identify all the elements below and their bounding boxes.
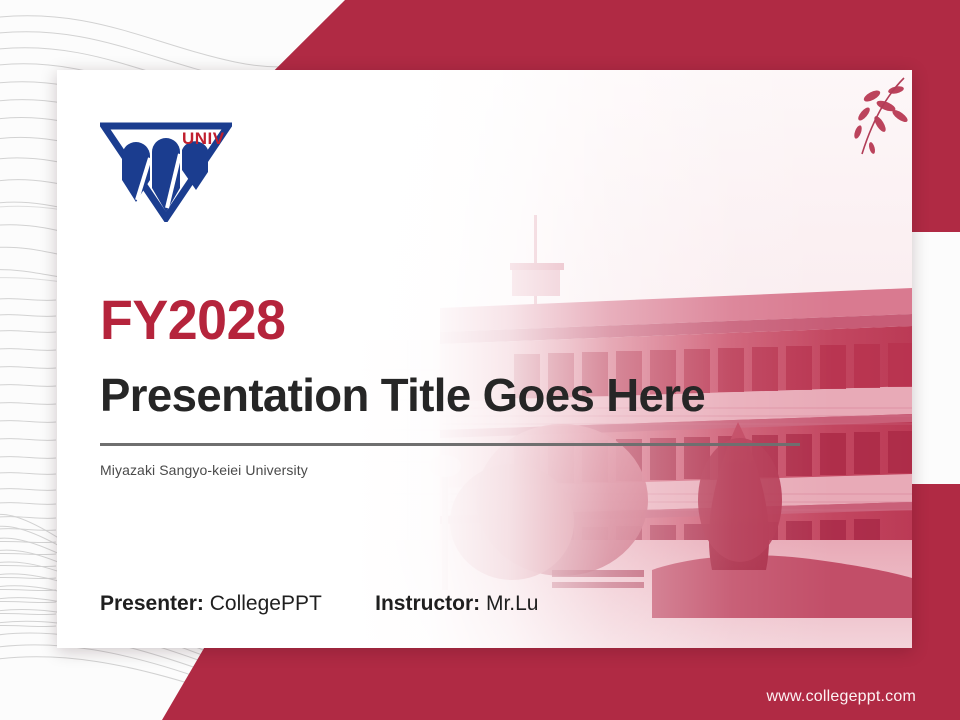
title-divider xyxy=(100,443,800,446)
instructor-label: Instructor: xyxy=(375,592,480,615)
presentation-slide: UNIV FY2028 Presentation Title Goes Here… xyxy=(0,0,960,720)
logo-univ-text: UNIV xyxy=(182,129,225,148)
university-logo: UNIV xyxy=(100,110,232,222)
page-title: Presentation Title Goes Here xyxy=(100,370,705,421)
campus-building-photo xyxy=(352,70,912,648)
university-subtitle: Miyazaki Sangyo-keiei University xyxy=(100,462,308,478)
presenter-name: CollegePPT xyxy=(210,592,322,615)
instructor-name: Mr.Lu xyxy=(486,592,539,615)
presenter-label: Presenter: xyxy=(100,592,204,615)
fiscal-year-heading: FY2028 xyxy=(100,292,285,348)
footer-url: www.collegeppt.com xyxy=(767,688,916,706)
credits-line: Presenter: CollegePPT Instructor: Mr.Lu xyxy=(100,592,538,616)
